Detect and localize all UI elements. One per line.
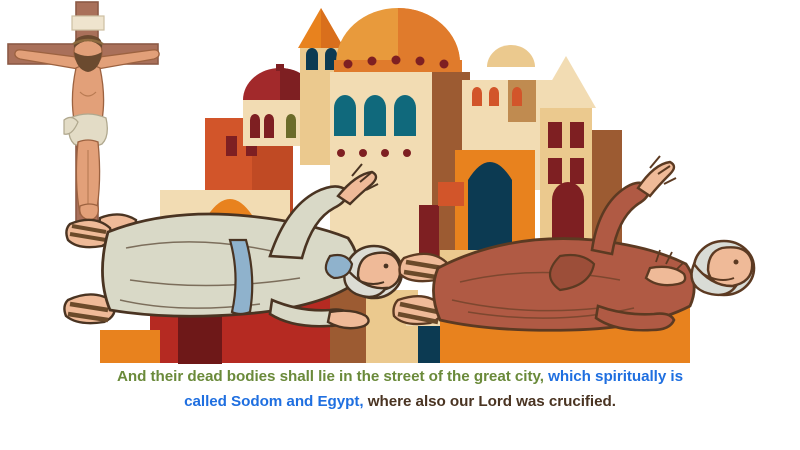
city-dot (381, 149, 389, 157)
city-spire-shadow (321, 8, 344, 48)
city-window (548, 122, 562, 148)
city-window (489, 87, 499, 106)
white-witness-collar (326, 255, 352, 278)
city-small-dome (487, 45, 535, 67)
red-witness-eye (734, 260, 739, 265)
city-arch-window (250, 114, 260, 138)
city-dome-finial (276, 64, 284, 71)
caption-segment-brown: where also our Lord was crucified. (364, 393, 616, 410)
white-witness-hand (328, 311, 369, 329)
crucifix-jesus (8, 2, 159, 242)
caption-segment-blue: which spiritually is (544, 368, 683, 385)
city-dome-dot (368, 57, 377, 66)
city-teal-window (394, 95, 416, 136)
city-dot (359, 149, 367, 157)
city-tower-window (306, 48, 318, 70)
city-window (570, 122, 584, 148)
white-witness-eye (384, 264, 389, 269)
city-dome-dot (440, 60, 449, 69)
scripture-caption: And their dead bodies shall lie in the s… (0, 364, 800, 414)
city-teal-window (334, 95, 356, 136)
city-arch-window (286, 114, 296, 138)
city-teal-window (364, 95, 386, 136)
city-window (226, 136, 237, 156)
inri-placard (72, 16, 104, 30)
city-dot (403, 149, 411, 157)
city-great-dome-shadow (398, 8, 460, 63)
white-witness-robe (102, 214, 357, 316)
city-dot (337, 149, 345, 157)
city-dome-dot (344, 60, 353, 69)
city-ledge (438, 182, 464, 206)
caption-segment-blue: called Sodom and Egypt, (184, 393, 363, 410)
caption-line-1: And their dead bodies shall lie in the s… (0, 364, 800, 389)
illustration-canvas: And their dead bodies shall lie in the s… (0, 0, 800, 450)
city-arch-window (264, 114, 274, 138)
caption-segment-green: And their dead bodies shall lie in the s… (117, 368, 544, 385)
city-window (570, 158, 584, 184)
city-window (512, 87, 522, 106)
city-step-tan (394, 326, 418, 363)
city-window (548, 158, 562, 184)
caption-line-2: called Sodom and Egypt, where also our L… (0, 389, 800, 414)
city-base-left (100, 330, 160, 363)
city-window (472, 87, 482, 106)
city-dome-dot (416, 57, 425, 66)
city-dome-dot (392, 56, 401, 65)
red-witness-hand (646, 267, 685, 285)
